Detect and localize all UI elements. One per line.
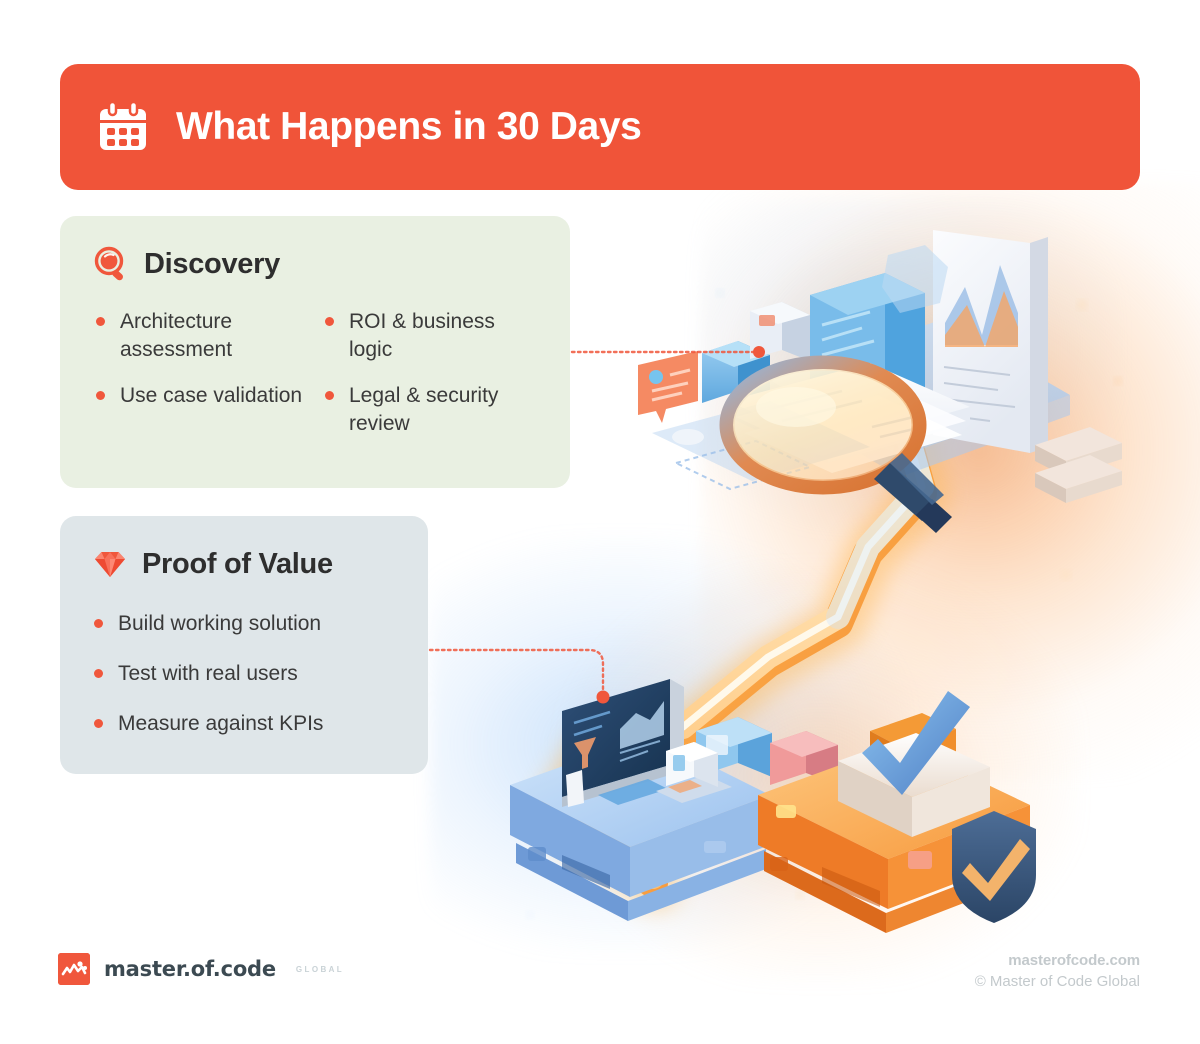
card-pov-title: Proof of Value xyxy=(142,548,333,581)
list-item: ROI & business logic xyxy=(323,308,536,364)
shield-badge xyxy=(952,811,1036,923)
brand-logo: master.of.code GLOBAL xyxy=(58,953,344,985)
card-proof-of-value: Proof of Value Build working solution Te… xyxy=(60,516,428,774)
logo-mark-icon xyxy=(58,953,90,985)
diamond-icon xyxy=(92,546,128,582)
isometric-journey-illustration xyxy=(470,195,1170,955)
header-banner: What Happens in 30 Days xyxy=(60,64,1140,190)
footer-copyright: © Master of Code Global xyxy=(975,973,1140,990)
footer-attribution: masterofcode.com © Master of Code Global xyxy=(975,952,1140,990)
discovery-scene xyxy=(638,230,1122,533)
card-discovery: Discovery Architecture assessment Use ca… xyxy=(60,216,570,488)
pov-bullet-list: Build working solution Test with real us… xyxy=(92,610,400,738)
card-pov-header: Proof of Value xyxy=(92,546,400,582)
calendar-icon xyxy=(96,100,150,154)
proof-scene xyxy=(510,679,1036,933)
logo-wordmark: master.of.code xyxy=(104,957,276,981)
discovery-column-left: Architecture assessment Use case validat… xyxy=(94,308,307,457)
card-discovery-header: Discovery xyxy=(94,246,536,282)
list-item: Architecture assessment xyxy=(94,308,307,364)
page-title: What Happens in 30 Days xyxy=(176,105,641,149)
chat-bubble xyxy=(638,351,698,423)
discovery-column-right: ROI & business logic Legal & security re… xyxy=(323,308,536,457)
list-item: Use case validation xyxy=(94,382,307,410)
card-discovery-title: Discovery xyxy=(144,248,280,281)
logo-global-label: GLOBAL xyxy=(296,965,344,974)
magnifier-icon xyxy=(94,246,130,282)
list-item: Legal & security review xyxy=(323,382,536,438)
discovery-bullet-columns: Architecture assessment Use case validat… xyxy=(94,308,536,457)
footer-website: masterofcode.com xyxy=(975,952,1140,969)
list-item: Measure against KPIs xyxy=(92,710,400,738)
list-item: Test with real users xyxy=(92,660,400,688)
list-item: Build working solution xyxy=(92,610,400,638)
